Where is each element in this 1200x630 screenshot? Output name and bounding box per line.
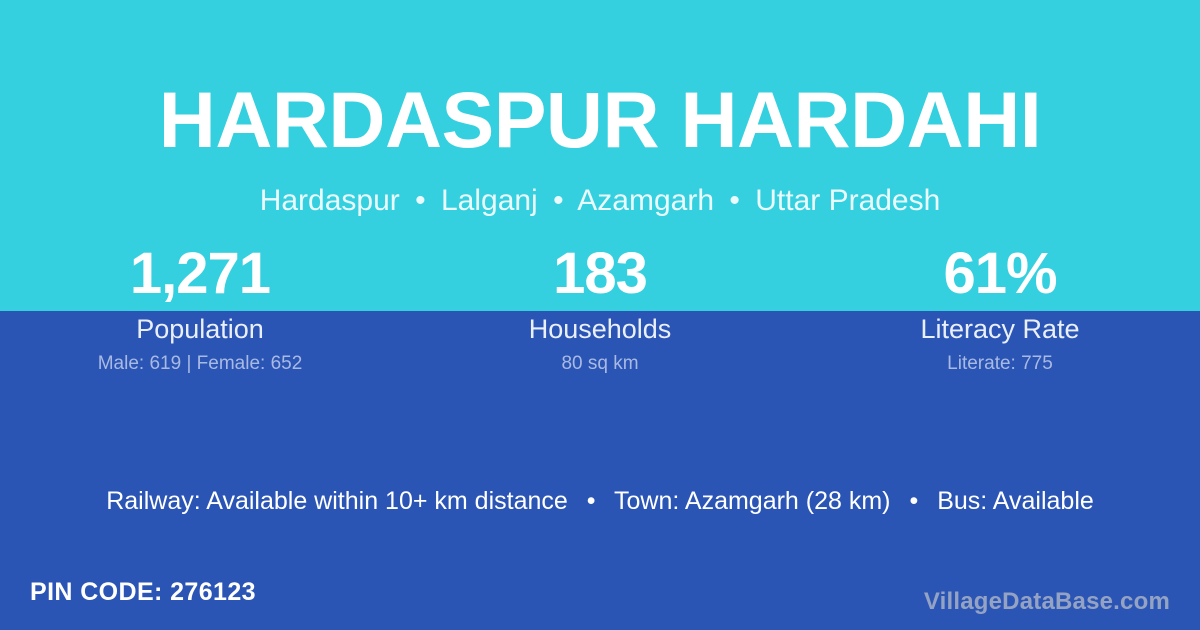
breadcrumb: Hardaspur • Lalganj • Azamgarh • Uttar P… — [0, 184, 1200, 218]
stat-label: Literacy Rate — [800, 314, 1200, 344]
infrastructure-bus: Bus: Available — [937, 487, 1094, 515]
infrastructure-separator-icon: • — [575, 487, 608, 515]
stat-sublabel: Literate: 775 — [800, 353, 1200, 375]
breadcrumb-separator-icon: • — [408, 184, 433, 217]
village-info-card: HARDASPUR HARDAHI Hardaspur • Lalganj • … — [0, 0, 1200, 630]
stat-value: 61% — [800, 243, 1200, 305]
stat-label: Households — [400, 314, 800, 344]
stats-row: 1,271 Population Male: 619 | Female: 652… — [0, 243, 1200, 375]
breadcrumb-part-village: Hardaspur — [260, 184, 400, 217]
stat-population: 1,271 Population Male: 619 | Female: 652 — [0, 243, 400, 375]
brand-watermark: VillageDataBase.com — [924, 588, 1170, 616]
breadcrumb-part-district: Azamgarh — [577, 184, 714, 217]
breadcrumb-separator-icon: • — [722, 184, 747, 217]
pin-code: PIN CODE: 276123 — [30, 577, 256, 607]
title-block: HARDASPUR HARDAHI Hardaspur • Lalganj • … — [0, 0, 1200, 218]
page-title: HARDASPUR HARDAHI — [0, 80, 1200, 159]
stat-sublabel: Male: 619 | Female: 652 — [0, 353, 400, 375]
breadcrumb-part-block: Lalganj — [441, 184, 538, 217]
stat-value: 183 — [400, 243, 800, 305]
stat-sublabel: 80 sq km — [400, 353, 800, 375]
stat-value: 1,271 — [0, 243, 400, 305]
infrastructure-line: Railway: Available within 10+ km distanc… — [0, 486, 1200, 516]
infrastructure-town: Town: Azamgarh (28 km) — [614, 487, 891, 515]
infrastructure-railway: Railway: Available within 10+ km distanc… — [106, 487, 568, 515]
infrastructure-separator-icon: • — [897, 487, 930, 515]
breadcrumb-separator-icon: • — [546, 184, 571, 217]
stat-label: Population — [0, 314, 400, 344]
breadcrumb-part-state: Uttar Pradesh — [755, 184, 940, 217]
stat-households: 183 Households 80 sq km — [400, 243, 800, 375]
stat-literacy-rate: 61% Literacy Rate Literate: 775 — [800, 243, 1200, 375]
